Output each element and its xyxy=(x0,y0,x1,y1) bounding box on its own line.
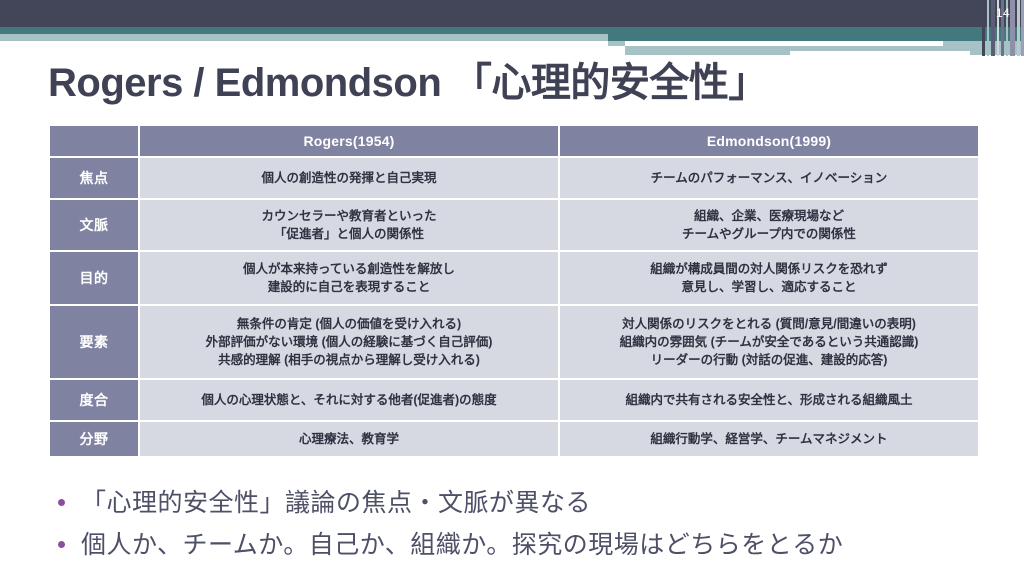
table-cell-edmondson: 対人関係のリスクをとれる (質問/意見/間違いの表明)組織内の雰囲気 (チームが… xyxy=(560,306,978,378)
table-row: 文脈カウンセラーや教育者といった「促進者」と個人の関係性組織、企業、医療現場など… xyxy=(50,200,978,250)
header-stripe-2 xyxy=(991,0,995,56)
table-cell-line: 意見し、学習し、適応すること xyxy=(560,278,978,296)
table-cell-line: 「促進者」と個人の関係性 xyxy=(140,225,558,243)
table-row: 要素無条件の肯定 (個人の価値を受け入れる)外部評価がない環境 (個人の経験に基… xyxy=(50,306,978,378)
table-cell-line: 組織、企業、医療現場など xyxy=(560,207,978,225)
header-dark-bar xyxy=(0,0,1024,27)
table-cell-line: チームのパフォーマンス、イノベーション xyxy=(560,169,978,187)
table-row-label: 度合 xyxy=(50,380,138,420)
table-cell-edmondson: チームのパフォーマンス、イノベーション xyxy=(560,158,978,198)
table-cell-line: 個人の創造性の発揮と自己実現 xyxy=(140,169,558,187)
header-teal-band-right xyxy=(608,27,1024,41)
list-item: 個人か、チームか。自己か、組織か。探究の現場はどちらをとるか xyxy=(58,526,998,564)
summary-bullet-list: 「心理的安全性」議論の焦点・文脈が異なる個人か、チームか。自己か、組織か。探究の… xyxy=(58,484,998,568)
table-row-label: 分野 xyxy=(50,422,138,456)
bullet-text: 個人か、チームか。自己か、組織か。探究の現場はどちらをとるか xyxy=(81,526,843,564)
table-cell-rogers: カウンセラーや教育者といった「促進者」と個人の関係性 xyxy=(140,200,558,250)
table-row: 目的個人が本来持っている創造性を解放し建設的に自己を表現すること組織が構成員間の… xyxy=(50,252,978,304)
table-row-label: 目的 xyxy=(50,252,138,304)
table-cell-line: 個人の心理状態と、それに対する他者(促進者)の態度 xyxy=(140,391,558,409)
bullet-text: 「心理的安全性」議論の焦点・文脈が異なる xyxy=(81,484,591,522)
table-cell-rogers: 個人が本来持っている創造性を解放し建設的に自己を表現すること xyxy=(140,252,558,304)
bullet-dot-icon xyxy=(58,541,65,548)
table-cell-line: 個人が本来持っている創造性を解放し xyxy=(140,260,558,278)
table-cell-line: 組織が構成員間の対人関係リスクを恐れず xyxy=(560,260,978,278)
header-stripe-6 xyxy=(1010,0,1015,56)
table-cell-line: 組織内で共有される安全性と、形成される組織風土 xyxy=(560,391,978,409)
table-row-label: 要素 xyxy=(50,306,138,378)
table-cell-line: 共感的理解 (相手の視点から理解し受け入れる) xyxy=(140,351,558,369)
table-row: 度合個人の心理状態と、それに対する他者(促進者)の態度組織内で共有される安全性と… xyxy=(50,380,978,420)
table-cell-line: リーダーの行動 (対話の促進、建設的応答) xyxy=(560,351,978,369)
table-cell-line: カウンセラーや教育者といった xyxy=(140,207,558,225)
table-cell-line: チームやグループ内での関係性 xyxy=(560,225,978,243)
table-cell-line: 組織行動学、経営学、チームマネジメント xyxy=(560,430,978,448)
table-cell-rogers: 個人の創造性の発揮と自己実現 xyxy=(140,158,558,198)
table-row-label: 焦点 xyxy=(50,158,138,198)
header-stripe-1 xyxy=(987,0,989,56)
table-cell-rogers: 個人の心理状態と、それに対する他者(促進者)の態度 xyxy=(140,380,558,420)
table-row-label: 文脈 xyxy=(50,200,138,250)
table-cell-edmondson: 組織行動学、経営学、チームマネジメント xyxy=(560,422,978,456)
slide-header-decoration: 14 xyxy=(0,0,1024,56)
table-column-header-edmondson: Edmondson(1999) xyxy=(560,126,978,156)
header-stripe-7 xyxy=(1017,0,1020,56)
table-cell-line: 対人関係のリスクをとれる (質問/意見/間違いの表明) xyxy=(560,315,978,333)
table-cell-line: 組織内の雰囲気 (チームが安全であるという共通認識) xyxy=(560,333,978,351)
table-cell-edmondson: 組織内で共有される安全性と、形成される組織風土 xyxy=(560,380,978,420)
page-title: Rogers / Edmondson 「心理的安全性」 xyxy=(48,56,988,110)
table-column-header-rogers: Rogers(1954) xyxy=(140,126,558,156)
header-pale-band-left xyxy=(0,34,608,41)
header-stripe-0 xyxy=(982,0,985,56)
comparison-table: Rogers(1954) Edmondson(1999) 焦点個人の創造性の発揮… xyxy=(48,124,980,458)
table-cell-line: 外部評価がない環境 (個人の経験に基づく自己評価) xyxy=(140,333,558,351)
list-item: 「心理的安全性」議論の焦点・文脈が異なる xyxy=(58,484,998,522)
table-cell-edmondson: 組織が構成員間の対人関係リスクを恐れず意見し、学習し、適応すること xyxy=(560,252,978,304)
table-row: 焦点個人の創造性の発揮と自己実現チームのパフォーマンス、イノベーション xyxy=(50,158,978,198)
table-cell-line: 無条件の肯定 (個人の価値を受け入れる) xyxy=(140,315,558,333)
table-cell-line: 心理療法、教育学 xyxy=(140,430,558,448)
table-cell-line: 建設的に自己を表現すること xyxy=(140,278,558,296)
header-white-notch xyxy=(608,46,625,55)
table-cell-edmondson: 組織、企業、医療現場などチームやグループ内での関係性 xyxy=(560,200,978,250)
table-row: 分野心理療法、教育学組織行動学、経営学、チームマネジメント xyxy=(50,422,978,456)
bullet-dot-icon xyxy=(58,499,65,506)
slide-number: 14 xyxy=(996,4,1010,22)
table-cell-rogers: 無条件の肯定 (個人の価値を受け入れる)外部評価がない環境 (個人の経験に基づく… xyxy=(140,306,558,378)
table-header-row: Rogers(1954) Edmondson(1999) xyxy=(50,126,978,156)
table-corner-cell xyxy=(50,126,138,156)
table-cell-rogers: 心理療法、教育学 xyxy=(140,422,558,456)
